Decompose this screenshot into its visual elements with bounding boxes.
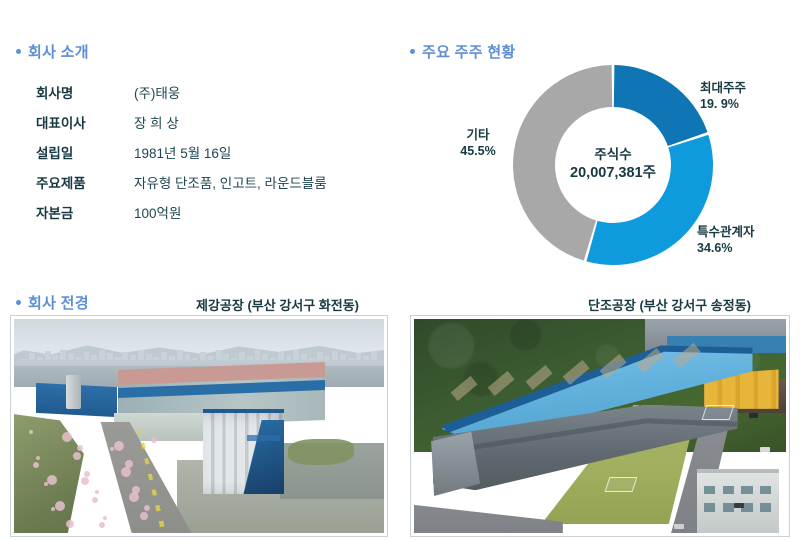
info-value: (주)태웅 <box>134 82 180 102</box>
donut-label-percent: 45.5% <box>447 143 509 159</box>
window-pane <box>723 503 734 512</box>
window-pane <box>760 486 771 495</box>
donut-slice-group <box>513 65 713 265</box>
info-label: 자본금 <box>36 202 134 222</box>
table-row: 주요제품 자유형 단조품, 인고트, 라운드블룸 <box>36 172 366 202</box>
photo-forging-plant <box>410 315 790 537</box>
section-heading-shareholders: 주요 주주 현황 <box>410 41 516 62</box>
parked-car <box>749 413 759 418</box>
donut-label-related-party: 특수관계자 34.6% <box>697 224 755 257</box>
blossom-dot <box>44 482 48 486</box>
blossom-dot <box>84 471 90 477</box>
shareholder-donut-chart: 주식수 20,007,381주 <box>508 60 718 270</box>
donut-label-name: 특수관계자 <box>697 225 755 239</box>
donut-slice <box>586 135 713 265</box>
info-label: 설립일 <box>36 142 134 162</box>
donut-label-major-shareholder: 최대주주 19. 9% <box>700 80 746 113</box>
parked-car <box>674 524 684 529</box>
photo-caption-steel-plant: 제강공장 (부산 강서구 화전동) <box>196 295 359 314</box>
blossom-dot <box>99 522 105 528</box>
bullet-dot-icon <box>410 49 415 54</box>
section-title-company-intro: 회사 소개 <box>28 41 89 62</box>
window-pane <box>723 486 734 495</box>
blossom-dot <box>114 441 124 451</box>
parked-car <box>760 447 770 452</box>
info-value: 100억원 <box>134 202 181 222</box>
blossom-dot <box>77 445 83 451</box>
table-row: 설립일 1981년 5월 16일 <box>36 142 366 172</box>
blossom-dot <box>73 452 81 460</box>
info-label: 회사명 <box>36 82 134 102</box>
photo-steel-plant-image <box>14 319 384 533</box>
bullet-dot-icon <box>16 300 21 305</box>
window-pane <box>704 486 715 495</box>
blossom-dot <box>103 516 107 520</box>
donut-label-percent: 34.6% <box>697 240 755 256</box>
goal-post <box>702 405 735 420</box>
window-pane <box>704 503 715 512</box>
blossom-dot <box>129 492 139 502</box>
blossom-dot <box>33 462 39 468</box>
section-title-shareholders: 주요 주주 현황 <box>422 41 516 62</box>
company-info-table: 회사명 (주)태웅 대표이사 장 희 상 설립일 1981년 5월 16일 주요… <box>36 82 366 232</box>
bullet-dot-icon <box>16 49 21 54</box>
info-value: 자유형 단조품, 인고트, 라운드블룸 <box>134 172 327 192</box>
donut-label-percent: 19. 9% <box>700 96 746 112</box>
donut-slice <box>614 65 708 146</box>
photo-caption-forging-plant: 단조공장 (부산 강서구 송정동) <box>588 295 751 314</box>
donut-label-name: 최대주주 <box>700 81 746 95</box>
blossom-dot <box>81 477 89 485</box>
photo-steel-plant <box>10 315 388 537</box>
goal-post <box>605 477 638 492</box>
donut-chart-svg <box>508 60 718 270</box>
blossom-dot <box>92 497 98 503</box>
blossom-dot <box>66 520 74 528</box>
info-value: 장 희 상 <box>134 112 179 132</box>
blossom-dot <box>144 505 150 511</box>
blossom-dot <box>121 467 131 477</box>
table-row: 자본금 100억원 <box>36 202 366 232</box>
section-title-company-view: 회사 전경 <box>28 292 89 313</box>
blossom-dot <box>55 501 65 511</box>
info-label: 주요제품 <box>36 172 134 192</box>
table-row: 대표이사 장 희 상 <box>36 112 366 142</box>
photo-forging-plant-image <box>414 319 786 533</box>
section-heading-company-view: 회사 전경 <box>16 292 89 313</box>
window-pane <box>741 486 752 495</box>
info-label: 대표이사 <box>36 112 134 132</box>
info-value: 1981년 5월 16일 <box>134 142 231 162</box>
table-row: 회사명 (주)태웅 <box>36 82 366 112</box>
section-heading-company-intro: 회사 소개 <box>16 41 89 62</box>
donut-label-others: 기타 45.5% <box>447 127 509 160</box>
blossom-dot <box>151 437 157 443</box>
donut-label-name: 기타 <box>466 128 489 142</box>
blossom-dot <box>95 490 99 494</box>
window-pane <box>760 503 771 512</box>
parked-car <box>734 503 744 508</box>
blossom-dot <box>140 512 148 520</box>
